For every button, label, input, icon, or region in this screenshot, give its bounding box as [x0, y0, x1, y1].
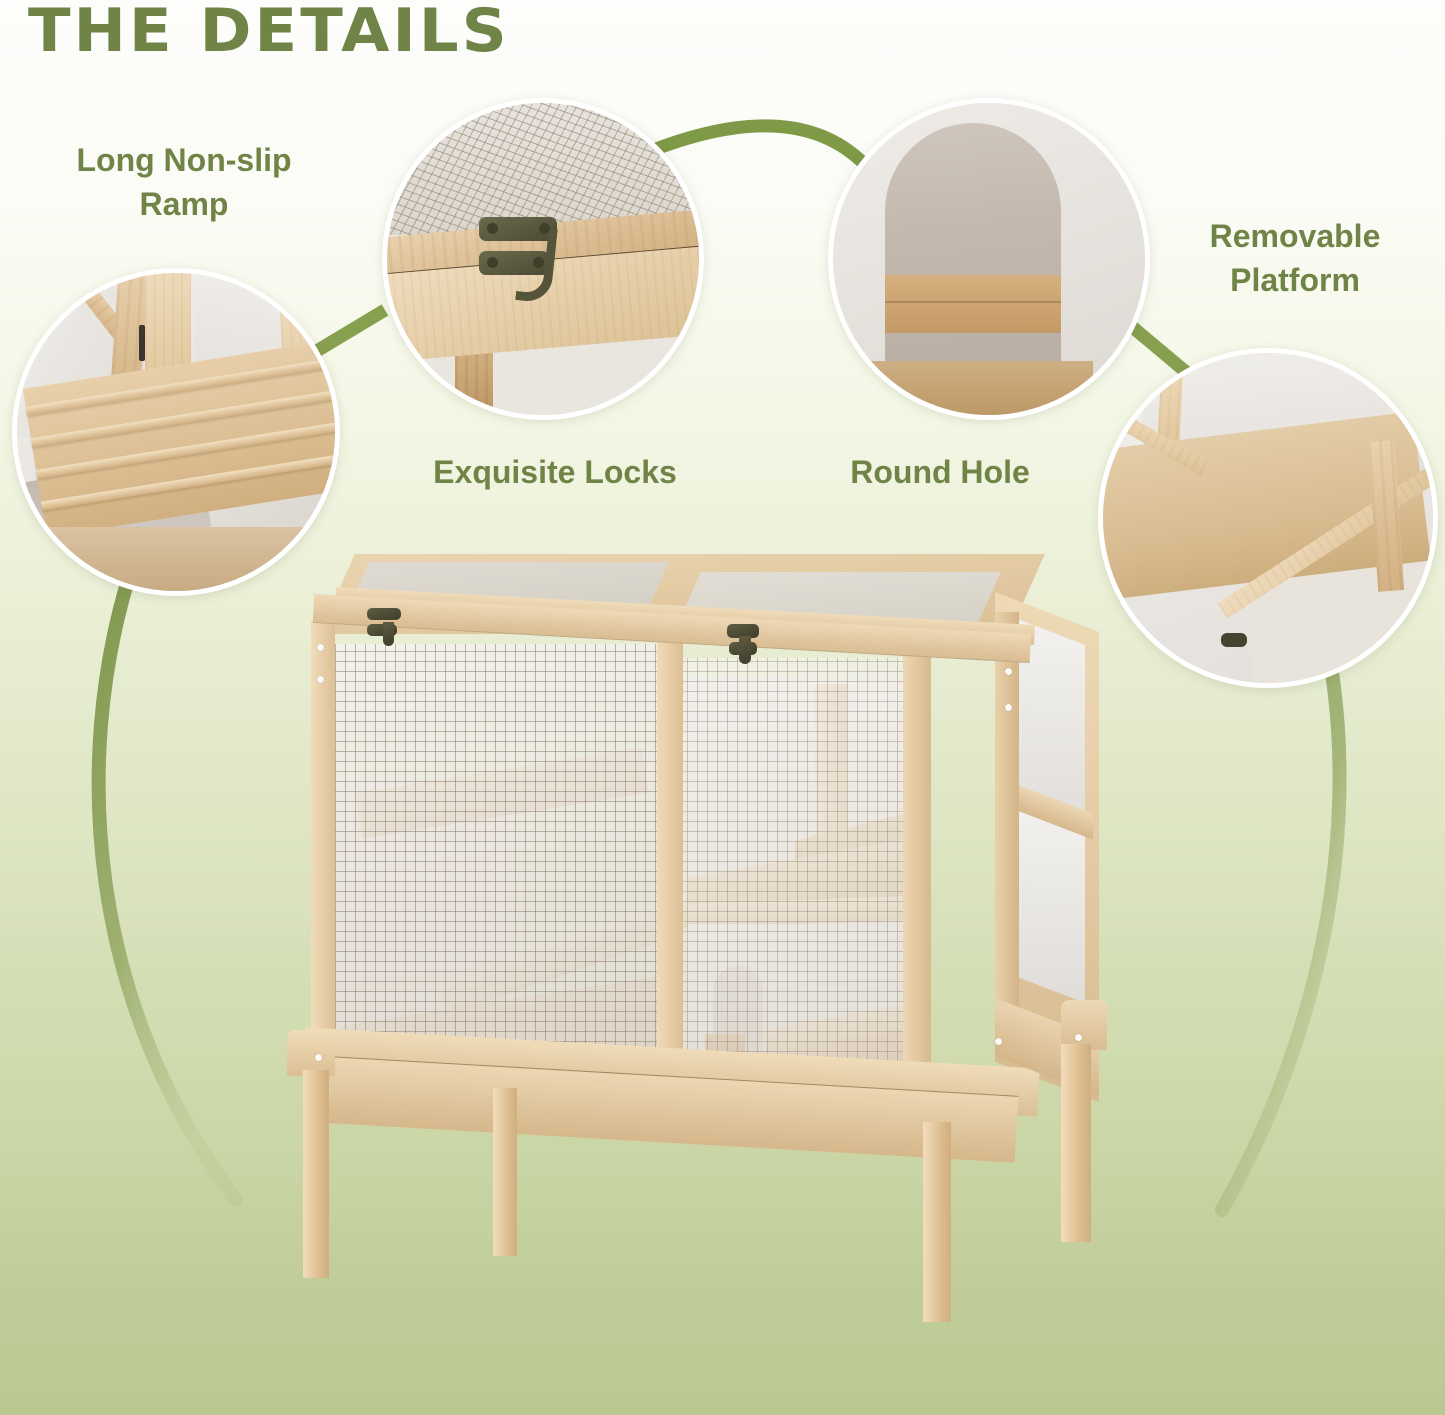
leg-front-right — [1061, 1044, 1091, 1242]
rear-right-post — [995, 612, 1019, 1044]
latch-icon-left[interactable] — [367, 608, 401, 644]
front-middle-post — [657, 634, 683, 1064]
front-right-post — [903, 648, 931, 1068]
callout-photo-round-hole — [828, 98, 1150, 420]
leg-rear-left — [493, 1088, 517, 1256]
infographic-canvas: THE DETAILS Long Non-slip Ramp Exqu — [0, 0, 1445, 1415]
connector-left-sweep — [99, 580, 236, 1200]
front-mesh-door-right — [657, 658, 907, 1062]
front-mesh-door-left — [335, 644, 659, 1062]
callout-label-locks: Exquisite Locks — [400, 450, 710, 494]
callout-photo-removable-platform — [1098, 348, 1438, 688]
leg-rear-right — [923, 1122, 951, 1322]
latch-icon — [479, 211, 557, 297]
front-left-post — [311, 620, 335, 1080]
product-illustration — [295, 548, 1095, 1278]
callout-label-round-hole: Round Hole — [815, 450, 1065, 494]
callout-photo-locks — [382, 98, 704, 420]
stand-bracket-right — [1061, 1000, 1107, 1050]
callout-photo-ramp — [12, 268, 340, 596]
connector-right-sweep — [1222, 660, 1340, 1210]
latch-icon-right[interactable] — [727, 624, 759, 664]
page-title: THE DETAILS — [28, 0, 510, 66]
leg-front-left — [303, 1070, 329, 1278]
callout-label-ramp: Long Non-slip Ramp — [34, 138, 334, 226]
callout-label-removable-platform: Removable Platform — [1150, 214, 1440, 302]
